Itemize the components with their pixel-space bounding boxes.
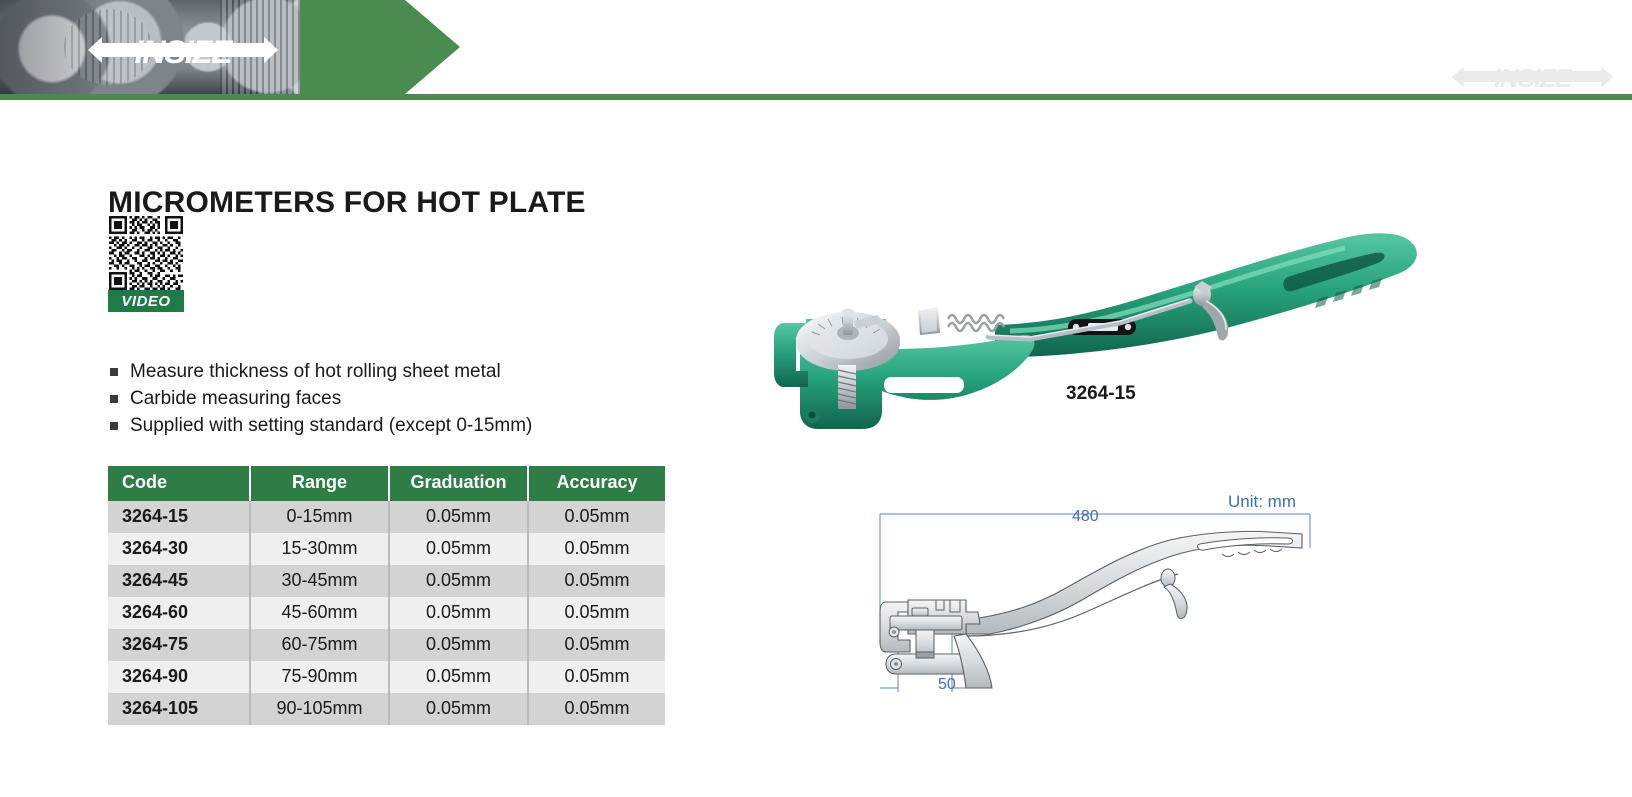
cell-graduation: 0.05mm [389,693,528,725]
cell-accuracy: 0.05mm [528,661,665,693]
cell-accuracy: 0.05mm [528,533,665,565]
cell-code: 3264-15 [108,501,250,533]
svg-text:INSIZE: INSIZE [134,34,234,70]
video-badge[interactable]: VIDEO [108,290,184,312]
cell-accuracy: 0.05mm [528,597,665,629]
cell-range: 45-60mm [250,597,389,629]
table-row[interactable]: 3264-90 75-90mm 0.05mm 0.05mm [108,661,665,693]
cell-accuracy: 0.05mm [528,565,665,597]
cell-graduation: 0.05mm [389,565,528,597]
cell-range: 0-15mm [250,501,389,533]
column-header-code: Code [108,466,250,501]
dimension-label-length: 480 [1072,508,1099,526]
cell-accuracy: 0.05mm [528,629,665,661]
header-green-chevron [300,0,460,94]
column-header-accuracy: Accuracy [528,466,665,501]
dimension-label-width: 50 [938,676,956,694]
cell-code: 3264-105 [108,693,250,725]
table-row[interactable]: 3264-105 90-105mm 0.05mm 0.05mm [108,693,665,725]
list-item: Carbide measuring faces [108,385,728,412]
insize-logo: INSIZE [88,30,278,70]
header-green-rule [0,94,1632,100]
cell-range: 60-75mm [250,629,389,661]
table-header-row: Code Range Graduation Accuracy [108,466,665,501]
product-photo-micrometer [770,215,1420,445]
table-row[interactable]: 3264-30 15-30mm 0.05mm 0.05mm [108,533,665,565]
column-header-graduation: Graduation [389,466,528,501]
cell-code: 3264-30 [108,533,250,565]
table-row[interactable]: 3264-60 45-60mm 0.05mm 0.05mm [108,597,665,629]
column-header-range: Range [250,466,389,501]
cell-accuracy: 0.05mm [528,501,665,533]
video-qr-block[interactable]: VIDEO [108,216,184,312]
table-row[interactable]: 3264-15 0-15mm 0.05mm 0.05mm [108,501,665,533]
cell-graduation: 0.05mm [389,629,528,661]
cell-graduation: 0.05mm [389,533,528,565]
cell-code: 3264-75 [108,629,250,661]
unit-label: Unit: mm [1228,492,1296,512]
table-row[interactable]: 3264-75 60-75mm 0.05mm 0.05mm [108,629,665,661]
svg-text:INSIZE: INSIZE [1494,65,1573,93]
cell-code: 3264-45 [108,565,250,597]
cell-accuracy: 0.05mm [528,693,665,725]
table-row[interactable]: 3264-45 30-45mm 0.05mm 0.05mm [108,565,665,597]
page-title: MICROMETERS FOR HOT PLATE [108,186,586,220]
page-header: INSIZE INSIZE [0,0,1632,100]
feature-list: Measure thickness of hot rolling sheet m… [108,358,728,439]
cell-range: 30-45mm [250,565,389,597]
product-caption: 3264-15 [1066,383,1136,405]
cell-graduation: 0.05mm [389,597,528,629]
cell-code: 3264-90 [108,661,250,693]
cell-code: 3264-60 [108,597,250,629]
insize-watermark-logo: INSIZE [1440,60,1625,94]
list-item: Measure thickness of hot rolling sheet m… [108,358,728,385]
cell-range: 15-30mm [250,533,389,565]
qr-code-icon[interactable] [108,216,184,290]
cell-graduation: 0.05mm [389,661,528,693]
specification-table: Code Range Graduation Accuracy 3264-15 0… [108,466,665,725]
list-item: Supplied with setting standard (except 0… [108,412,728,439]
cell-range: 75-90mm [250,661,389,693]
cell-range: 90-105mm [250,693,389,725]
cell-graduation: 0.05mm [389,501,528,533]
